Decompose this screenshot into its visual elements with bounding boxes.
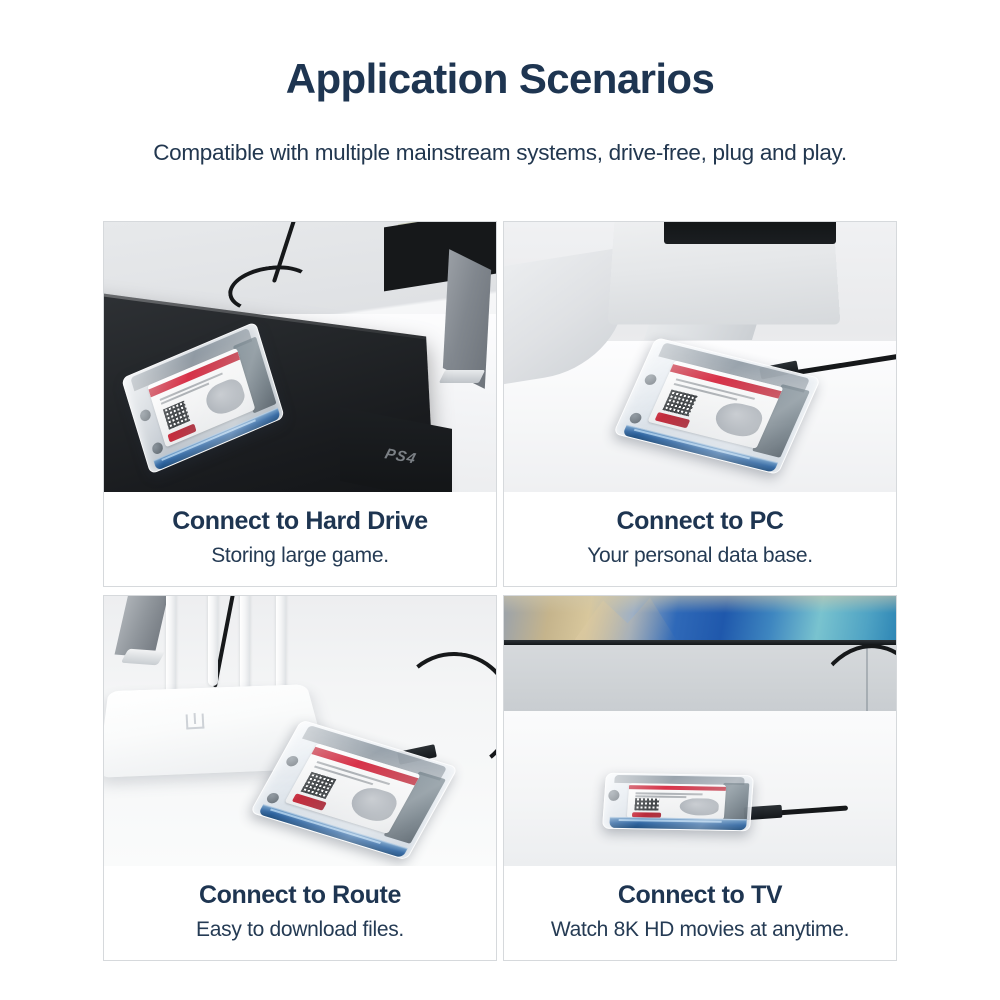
landscape-wallpaper-peaks — [575, 596, 677, 640]
sata-connector-edge — [610, 817, 747, 830]
hdd-label-red-bar — [629, 785, 727, 791]
scenario-card-grid: PS4 — [103, 221, 897, 961]
page-subtitle: Compatible with multiple mainstream syst… — [0, 102, 1000, 166]
television-screen — [504, 596, 896, 640]
monitor-stand-leg — [443, 249, 491, 389]
hdd-label — [626, 783, 726, 820]
hdd-label-graphic — [203, 375, 247, 420]
scenario-photo-hard-drive: PS4 — [104, 222, 496, 492]
page-title: Application Scenarios — [0, 0, 1000, 102]
hdd-enclosure — [602, 773, 754, 832]
imac-screen — [664, 222, 836, 244]
application-scenarios-page: Application Scenarios Compatible with mu… — [0, 0, 1000, 1000]
monitor-stand-foot — [121, 649, 165, 666]
card-subtitle: Storing large game. — [211, 544, 389, 568]
hdd-label-qr-code — [663, 389, 698, 416]
hdd-label-graphic — [680, 798, 720, 816]
hdd-label-graphic — [710, 400, 767, 440]
hdd-label-graphic — [345, 784, 402, 825]
card-title: Connect to Route — [199, 880, 401, 910]
scenario-card-connect-route[interactable]: Connect to Route Easy to download files. — [103, 595, 497, 961]
hdd-label-qr-code — [301, 772, 337, 799]
card-subtitle: Easy to download files. — [196, 918, 404, 942]
hdd-label-qr-code — [635, 799, 659, 811]
card-title: Connect to Hard Drive — [172, 506, 428, 536]
scenario-card-connect-tv[interactable]: Connect to TV Watch 8K HD movies at anyt… — [503, 595, 897, 961]
monitor-stand-foot — [439, 370, 485, 383]
scenario-photo-pc — [504, 222, 896, 492]
card-subtitle: Your personal data base. — [587, 544, 813, 568]
scenario-card-connect-pc[interactable]: Connect to PC Your personal data base. — [503, 221, 897, 587]
scenario-card-connect-hard-drive[interactable]: PS4 — [103, 221, 497, 587]
card-subtitle: Watch 8K HD movies at anytime. — [551, 918, 849, 942]
card-title: Connect to PC — [616, 506, 783, 536]
mi-logo-icon — [186, 714, 205, 730]
router-antenna — [208, 596, 218, 686]
router-antenna — [166, 596, 176, 696]
card-title: Connect to TV — [618, 880, 782, 910]
scenario-photo-route — [104, 596, 496, 866]
caption-pc: Connect to PC Your personal data base. — [504, 492, 896, 586]
caption-tv: Connect to TV Watch 8K HD movies at anyt… — [504, 866, 896, 960]
caption-route: Connect to Route Easy to download files. — [104, 866, 496, 960]
router-antenna — [240, 596, 250, 690]
scenario-photo-tv — [504, 596, 896, 866]
caption-hard-drive: Connect to Hard Drive Storing large game… — [104, 492, 496, 586]
